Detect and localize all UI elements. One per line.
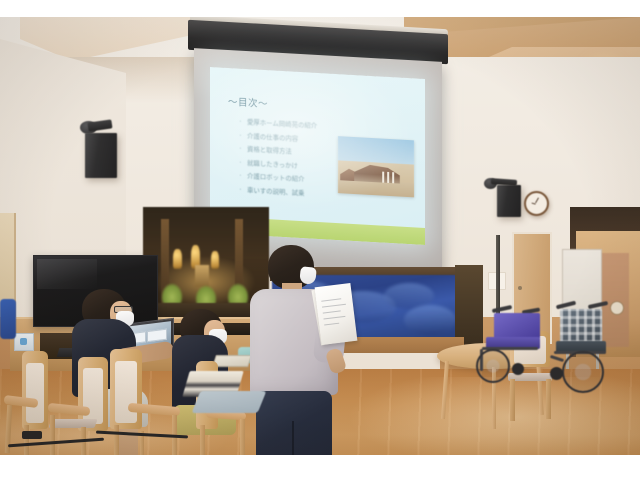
speaker-left	[85, 133, 117, 178]
paper-line	[321, 298, 341, 301]
speaker-right	[497, 185, 521, 217]
wall-clock	[524, 191, 549, 216]
wheelchair-wheel	[562, 351, 604, 393]
letterbox-bottom	[0, 455, 640, 480]
device-indicator	[20, 338, 27, 345]
chair-leg	[200, 425, 205, 455]
wheelchair-footrest	[550, 355, 564, 362]
wheelchair-caster	[550, 367, 563, 380]
slide-title: ～目次～	[228, 94, 268, 110]
screenshot-root: ～目次～ 愛厚ホーム岡崎苑の紹介 介護の仕事の内容 資格と取得方法 就職したきっ…	[0, 0, 640, 480]
wheelchair-backrest	[494, 313, 540, 339]
altar-center-plaque	[195, 265, 209, 287]
handout-papers	[315, 283, 358, 345]
wheelchair-handle[interactable]	[588, 301, 608, 309]
paper-line	[322, 304, 346, 308]
photograph: ～目次～ 愛厚ホーム岡崎苑の紹介 介護の仕事の内容 資格と取得方法 就職したきっ…	[0, 17, 640, 455]
wheelchair-wheel	[476, 349, 510, 383]
wheelchair-plaid[interactable]	[550, 303, 640, 403]
floor-mat	[192, 391, 267, 413]
wheelchair-backrest	[560, 309, 602, 343]
chair-seat	[48, 419, 97, 428]
paper-line	[323, 316, 345, 320]
wheelchair-handle[interactable]	[492, 305, 512, 313]
pant-seam	[292, 421, 294, 455]
paper-line	[323, 310, 341, 313]
small-device-box	[14, 333, 34, 351]
chair-leg	[24, 425, 29, 455]
wheelchair-caster	[512, 363, 524, 375]
letterbox-top	[0, 0, 640, 17]
chair-leg	[240, 419, 245, 455]
tv-screen-reflection	[37, 259, 97, 289]
chair-back-pad	[115, 361, 137, 423]
chair-leg	[114, 425, 119, 455]
wheelchair-purple[interactable]	[470, 307, 556, 393]
paper-line	[324, 323, 339, 326]
altar-plant-2	[195, 285, 217, 305]
slide-photo-poles	[382, 172, 396, 184]
power-adapter	[22, 431, 42, 439]
slide-facility-photo	[338, 136, 414, 197]
blue-object-left	[0, 299, 16, 339]
chair-leg	[50, 415, 55, 455]
tarp-fold	[404, 305, 456, 335]
altar-ornament-3	[211, 251, 219, 269]
door-handle[interactable]	[518, 286, 522, 290]
face-mask	[299, 266, 317, 285]
altar-ornament-1	[173, 249, 182, 269]
